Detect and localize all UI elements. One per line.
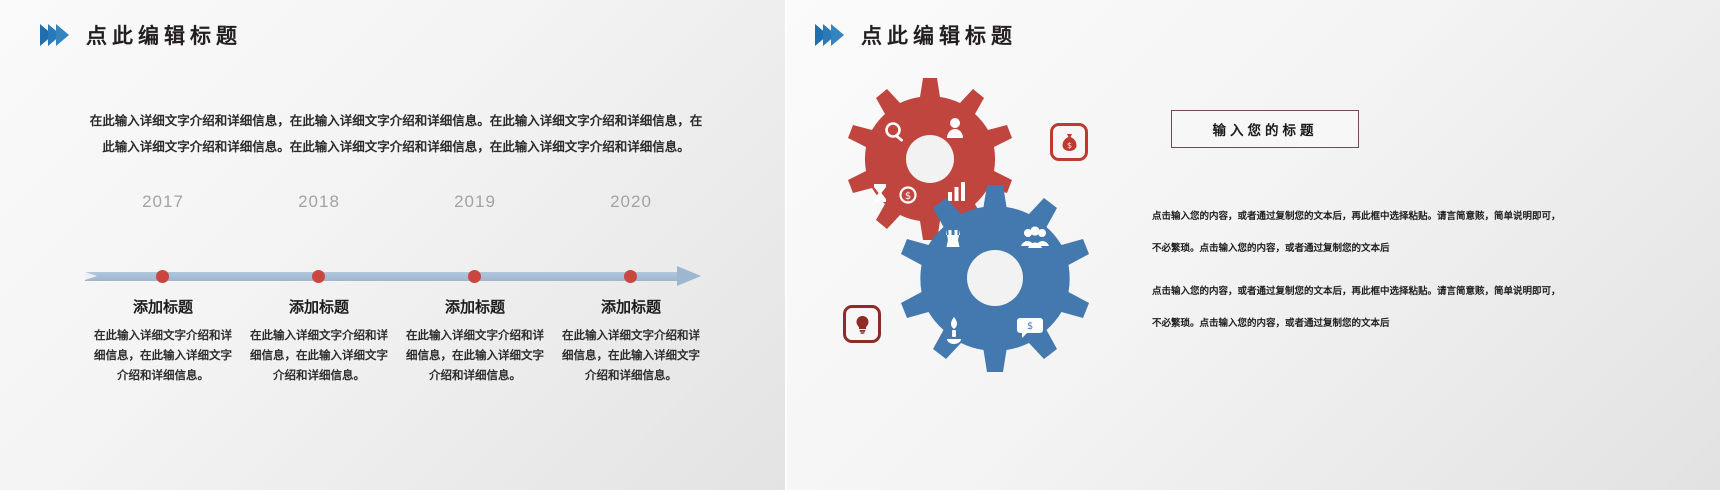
timeline-year-labels: 2017 2018 2019 2020 [85,192,710,212]
body-line: 不必繁琐。点击输入您的内容，或者通过复制您的文本后 [1152,319,1607,330]
lightbulb-icon [852,314,873,335]
slide-gears: 点此编辑标题 [785,0,1720,490]
timeline-item[interactable]: 添加标题 在此输入详细文字介绍和详细信息，在此输入详细文字介绍和详细信息。 [553,296,709,385]
slide-header-right: 点此编辑标题 [815,20,1017,50]
slide-header-left: 点此编辑标题 [40,20,242,50]
timeline-item-title: 添加标题 [245,296,393,317]
timeline-arrowhead-icon [677,266,701,286]
svg-text:$: $ [1027,321,1033,332]
gear-graphic: $ [835,78,1135,408]
timeline-year: 2017 [85,192,241,212]
body-block-one: 点击输入您的内容，或者通过复制您的文本后，再此框中选择粘贴。请言简意赅，简单说明… [1152,212,1607,255]
money-bag-icon: $ [1059,132,1080,153]
timeline-item-desc: 在此输入详细文字介绍和详细信息，在此输入详细文字介绍和详细信息。 [557,326,705,385]
body-line: 点击输入您的内容，或者通过复制您的文本后，再此框中选择粘贴。请言简意赅，简单说明… [1152,287,1607,298]
timeline-item-desc: 在此输入详细文字介绍和详细信息，在此输入详细文字介绍和详细信息。 [401,326,549,385]
timeline-year: 2018 [241,192,397,212]
timeline-item-title: 添加标题 [401,296,549,317]
triple-chevron-right-icon [815,24,839,46]
timeline-items: 添加标题 在此输入详细文字介绍和详细信息，在此输入详细文字介绍和详细信息。 添加… [85,296,710,385]
page-title: 点此编辑标题 [86,20,242,50]
money-bag-badge-icon: $ [1050,123,1088,161]
timeline-dot [468,270,481,283]
intro-paragraph: 在此输入详细文字介绍和详细信息，在此输入详细文字介绍和详细信息。在此输入详细文字… [85,108,707,159]
timeline-item-title: 添加标题 [557,296,705,317]
timeline-item-desc: 在此输入详细文字介绍和详细信息，在此输入详细文字介绍和详细信息。 [245,326,393,385]
timeline-dot [156,270,169,283]
title-box[interactable]: 输入您的标题 [1171,110,1359,148]
timeline-year: 2020 [553,192,709,212]
timeline-tail-notch-icon [85,272,97,280]
timeline-dot [312,270,325,283]
timeline-bar [85,272,677,281]
svg-text:$: $ [905,191,911,202]
title-box-label: 输入您的标题 [1213,119,1318,139]
slide-timeline: 点此编辑标题 在此输入详细文字介绍和详细信息，在此输入详细文字介绍和详细信息。在… [0,0,785,490]
body-line: 点击输入您的内容，或者通过复制您的文本后，再此框中选择粘贴。请言简意赅，简单说明… [1152,212,1607,223]
timeline-item-desc: 在此输入详细文字介绍和详细信息，在此输入详细文字介绍和详细信息。 [89,326,237,385]
timeline-item[interactable]: 添加标题 在此输入详细文字介绍和详细信息，在此输入详细文字介绍和详细信息。 [85,296,241,385]
lightbulb-badge-icon [843,305,881,343]
timeline-arrow [85,266,715,286]
timeline-dot [624,270,637,283]
timeline-item[interactable]: 添加标题 在此输入详细文字介绍和详细信息，在此输入详细文字介绍和详细信息。 [397,296,553,385]
body-line: 不必繁琐。点击输入您的内容，或者通过复制您的文本后 [1152,244,1607,255]
svg-text:$: $ [1066,141,1071,150]
body-block-two: 点击输入您的内容，或者通过复制您的文本后，再此框中选择粘贴。请言简意赅，简单说明… [1152,287,1607,330]
timeline-year: 2019 [397,192,553,212]
slide-deck: 点此编辑标题 在此输入详细文字介绍和详细信息，在此输入详细文字介绍和详细信息。在… [0,0,1720,490]
gear-illustration-svg: $ [835,78,1135,408]
timeline-item[interactable]: 添加标题 在此输入详细文字介绍和详细信息，在此输入详细文字介绍和详细信息。 [241,296,397,385]
triple-chevron-right-icon [40,24,64,46]
timeline-item-title: 添加标题 [89,296,237,317]
page-title: 点此编辑标题 [861,20,1017,50]
